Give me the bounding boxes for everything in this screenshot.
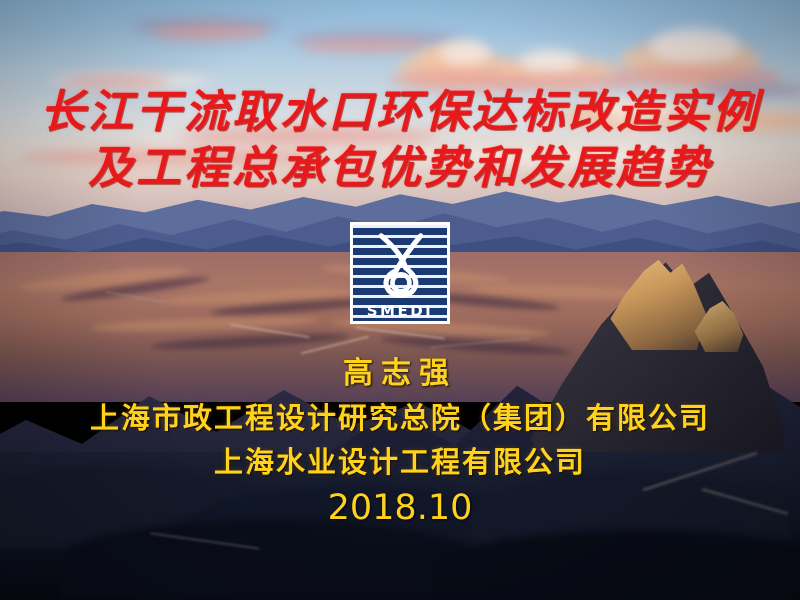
title-line-1: 长江干流取水口环保达标改造实例	[0, 84, 800, 140]
smedi-logo: SMEDI	[350, 222, 450, 324]
presentation-date: 2018.10	[0, 484, 800, 532]
credits-block: 高志强 上海市政工程设计研究总院（集团）有限公司 上海水业设计工程有限公司 20…	[0, 352, 800, 532]
slide-content: 长江干流取水口环保达标改造实例 及工程总承包优势和发展趋势 SMEDI	[0, 0, 800, 600]
organization-primary: 上海市政工程设计研究总院（集团）有限公司	[0, 396, 800, 440]
smedi-logo-text: SMEDI	[353, 303, 447, 319]
smedi-loop-icon	[353, 227, 447, 301]
title-line-2: 及工程总承包优势和发展趋势	[0, 140, 800, 196]
smedi-logo-inner: SMEDI	[353, 225, 447, 321]
organization-secondary: 上海水业设计工程有限公司	[0, 440, 800, 484]
presenter-name: 高志强	[0, 352, 800, 396]
title-slide: 长江干流取水口环保达标改造实例 及工程总承包优势和发展趋势 SMEDI	[0, 0, 800, 600]
page-title: 长江干流取水口环保达标改造实例 及工程总承包优势和发展趋势	[0, 84, 800, 196]
